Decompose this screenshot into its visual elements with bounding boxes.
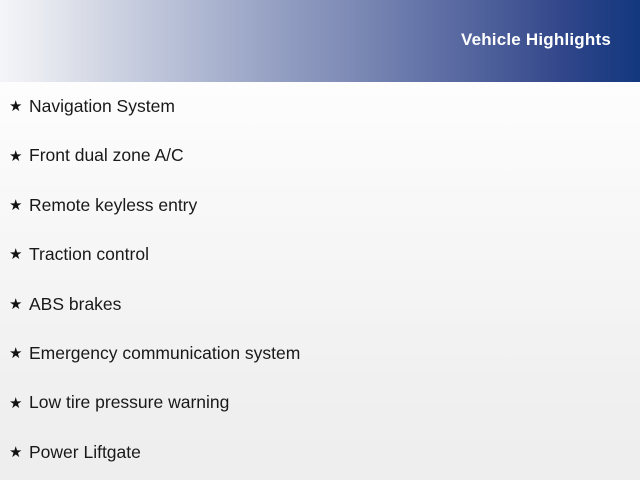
vehicle-highlights-slide: Vehicle Highlights ★ Navigation System ★…: [0, 0, 640, 480]
list-item-label: Navigation System: [29, 97, 175, 116]
list-item-label: Low tire pressure warning: [29, 393, 229, 412]
list-item: ★ Navigation System: [0, 82, 640, 131]
vehicle-highlights-list: ★ Navigation System ★ Front dual zone A/…: [0, 82, 640, 477]
list-item-label: ABS brakes: [29, 295, 121, 314]
star-icon: ★: [9, 297, 29, 312]
list-item: ★ Remote keyless entry: [0, 181, 640, 230]
list-item-label: Traction control: [29, 245, 149, 264]
star-icon: ★: [9, 149, 29, 164]
page-title: Vehicle Highlights: [461, 30, 611, 50]
list-item-label: Remote keyless entry: [29, 196, 197, 215]
star-icon: ★: [9, 445, 29, 460]
list-item: ★ Low tire pressure warning: [0, 378, 640, 427]
list-item: ★ Traction control: [0, 230, 640, 279]
star-icon: ★: [9, 99, 29, 114]
list-item: ★ Front dual zone A/C: [0, 131, 640, 180]
list-item-label: Emergency communication system: [29, 344, 300, 363]
star-icon: ★: [9, 396, 29, 411]
star-icon: ★: [9, 198, 29, 213]
list-item-label: Front dual zone A/C: [29, 146, 184, 165]
star-icon: ★: [9, 346, 29, 361]
list-item: ★ Emergency communication system: [0, 329, 640, 378]
star-icon: ★: [9, 247, 29, 262]
list-item-label: Power Liftgate: [29, 443, 141, 462]
list-item: ★ ABS brakes: [0, 280, 640, 329]
list-item: ★ Power Liftgate: [0, 428, 640, 477]
header-banner: Vehicle Highlights: [0, 0, 640, 82]
